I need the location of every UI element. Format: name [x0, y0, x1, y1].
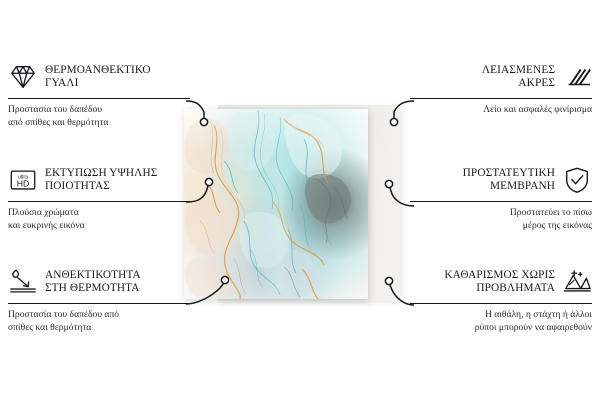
feature-title: ΛΕΙΑΣΜΕΝΕΣ ΑΚΡΕΣ	[482, 64, 555, 91]
feature-title-line2: ΠΡΟΒΛΗΜΑΤΑ	[444, 282, 555, 295]
feature-heat-resistant-glass: ΘΕΡΜΟΑΝΘΕΚΤΙΚΟ ΓΥΑΛΙ Προστασία του δαπέδ…	[8, 60, 190, 129]
feature-heat-durability: ΑΝΘΕΚΤΙΚΟΤΗΤΑ ΣΤΗ ΘΕΡΜΟΤΗΤΑ Προστασία το…	[8, 265, 190, 334]
feature-title: ΕΚΤΥΠΩΣΗ ΥΨΗΛΗΣ ΠΟΙΟΤΗΤΑΣ	[45, 167, 157, 194]
feature-divider	[410, 201, 592, 202]
feature-desc-line2: και ευκρινής εικόνα	[8, 220, 190, 232]
feature-protective-film: ΠΡΟΣΤΑΤΕΥΤΙΚΗ ΜΕΜΒΡΑΝΗ Προστατεύει το πί…	[410, 163, 592, 232]
feature-description: Πλούσια χρώματα και ευκρινής εικόνα	[8, 207, 190, 231]
feature-description: Προστασία του δαπέδου από σπίθες και θερ…	[8, 309, 190, 333]
feature-desc-line2: από σπίθες και θερμότητα	[8, 117, 190, 129]
feature-divider	[410, 98, 592, 99]
feature-title-line1: ΑΝΘΕΚΤΙΚΟΤΗΤΑ	[45, 269, 141, 282]
feature-title: ΚΑΘΑΡΙΣΜΟΣ ΧΩΡΙΣ ΠΡΟΒΛΗΜΑΤΑ	[444, 269, 555, 296]
feature-desc-line1: Λείο και ασφαλές φινίρισμα	[410, 104, 592, 116]
feature-title-line1: ΛΕΙΑΣΜΕΝΕΣ	[482, 64, 555, 77]
heat-resistance-icon	[8, 267, 38, 297]
polished-edges-icon	[562, 62, 592, 92]
product-image	[178, 105, 400, 305]
feature-desc-line1: Πλούσια χρώματα	[8, 207, 190, 219]
feature-title-line1: ΘΕΡΜΟΑΝΘΕΚΤΙΚΟ	[45, 64, 151, 77]
feature-divider	[8, 98, 190, 99]
feature-title-line2: ΣΤΗ ΘΕΡΜΟΤΗΤΑ	[45, 282, 141, 295]
feature-high-quality-printing: ultra HD ΕΚΤΥΠΩΣΗ ΥΨΗΛΗΣ ΠΟΙΟΤΗΤΑΣ Πλούσ…	[8, 163, 190, 232]
feature-easy-cleaning: ΚΑΘΑΡΙΣΜΟΣ ΧΩΡΙΣ ΠΡΟΒΛΗΜΑΤΑ Η αιθάλη, η …	[410, 265, 592, 334]
feature-header: ΑΝΘΕΚΤΙΚΟΤΗΤΑ ΣΤΗ ΘΕΡΜΟΤΗΤΑ	[8, 265, 190, 299]
feature-description: Η αιθάλη, η στάχτη ή άλλοι ρύποι μπορούν…	[410, 309, 592, 333]
ultra-hd-icon-bottom-text: HD	[17, 179, 29, 189]
product-glass-panel	[184, 109, 368, 299]
feature-title-line2: ΠΟΙΟΤΗΤΑΣ	[45, 180, 157, 193]
feature-divider	[8, 201, 190, 202]
feature-title-line1: ΠΡΟΣΤΑΤΕΥΤΙΚΗ	[463, 167, 555, 180]
feature-title: ΑΝΘΕΚΤΙΚΟΤΗΤΑ ΣΤΗ ΘΕΡΜΟΤΗΤΑ	[45, 269, 141, 296]
ultra-hd-icon: ultra HD	[8, 165, 38, 195]
feature-header: ΚΑΘΑΡΙΣΜΟΣ ΧΩΡΙΣ ΠΡΟΒΛΗΜΑΤΑ	[410, 265, 592, 299]
abstract-marble-artwork	[184, 109, 368, 299]
feature-polished-edges: ΛΕΙΑΣΜΕΝΕΣ ΑΚΡΕΣ Λείο και ασφαλές φινίρι…	[410, 60, 592, 117]
infographic-canvas: ΘΕΡΜΟΑΝΘΕΚΤΙΚΟ ΓΥΑΛΙ Προστασία του δαπέδ…	[0, 0, 600, 400]
easy-cleaning-icon	[562, 267, 592, 297]
feature-description: Λείο και ασφαλές φινίρισμα	[410, 104, 592, 116]
feature-divider	[8, 303, 190, 304]
feature-header: ΛΕΙΑΣΜΕΝΕΣ ΑΚΡΕΣ	[410, 60, 592, 94]
feature-title-line2: ΜΕΜΒΡΑΝΗ	[463, 180, 555, 193]
feature-title-line2: ΑΚΡΕΣ	[482, 77, 555, 90]
feature-description: Προστασία του δαπέδου από σπίθες και θερ…	[8, 104, 190, 128]
feature-desc-line1: Η αιθάλη, η στάχτη ή άλλοι	[410, 309, 592, 321]
feature-header: ΠΡΟΣΤΑΤΕΥΤΙΚΗ ΜΕΜΒΡΑΝΗ	[410, 163, 592, 197]
feature-title: ΘΕΡΜΟΑΝΘΕΚΤΙΚΟ ΓΥΑΛΙ	[45, 64, 151, 91]
feature-description: Προστατεύει το πίσω μέρος της εικόνας	[410, 207, 592, 231]
feature-desc-line1: Προστασία του δαπέδου	[8, 104, 190, 116]
feature-title-line2: ΓΥΑΛΙ	[45, 77, 151, 90]
feature-desc-line2: σπίθες και θερμότητα	[8, 322, 190, 334]
shield-check-icon	[562, 165, 592, 195]
feature-title-line1: ΕΚΤΥΠΩΣΗ ΥΨΗΛΗΣ	[45, 167, 157, 180]
feature-header: ultra HD ΕΚΤΥΠΩΣΗ ΥΨΗΛΗΣ ΠΟΙΟΤΗΤΑΣ	[8, 163, 190, 197]
feature-header: ΘΕΡΜΟΑΝΘΕΚΤΙΚΟ ΓΥΑΛΙ	[8, 60, 190, 94]
feature-desc-line1: Προστασία του δαπέδου από	[8, 309, 190, 321]
feature-desc-line2: ρύποι μπορούν να αφαιρεθούν	[410, 322, 592, 334]
diamond-icon	[8, 62, 38, 92]
feature-desc-line2: μέρος της εικόνας	[410, 220, 592, 232]
feature-desc-line1: Προστατεύει το πίσω	[410, 207, 592, 219]
feature-divider	[410, 303, 592, 304]
feature-title-line1: ΚΑΘΑΡΙΣΜΟΣ ΧΩΡΙΣ	[444, 269, 555, 282]
feature-title: ΠΡΟΣΤΑΤΕΥΤΙΚΗ ΜΕΜΒΡΑΝΗ	[463, 167, 555, 194]
